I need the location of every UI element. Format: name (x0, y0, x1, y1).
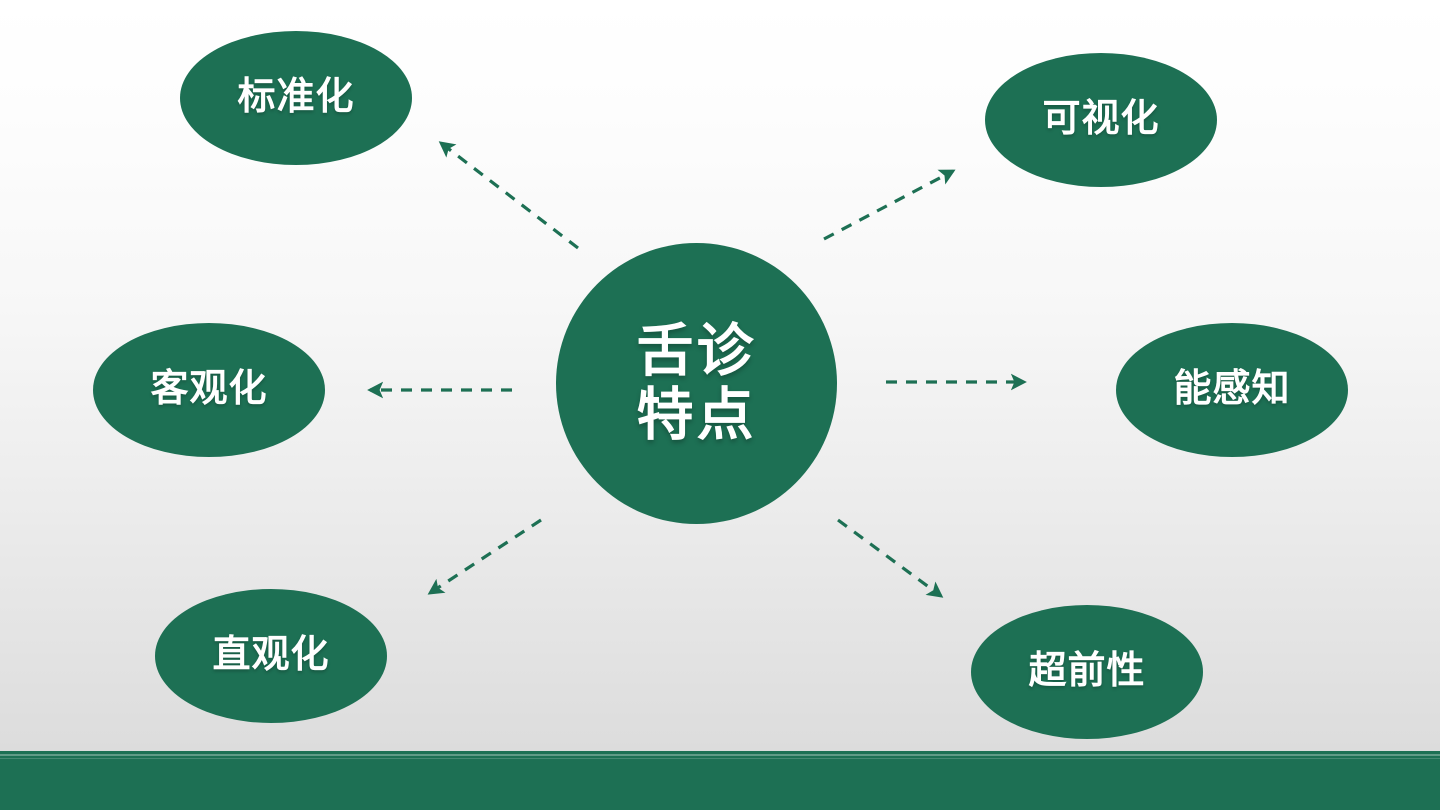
node-bottom-right-label: 超前性 (1028, 651, 1145, 693)
connector-center-to-bottom-right (838, 520, 941, 596)
node-middle-left[interactable]: 客观化 (93, 323, 325, 457)
node-top-left[interactable]: 标准化 (180, 31, 412, 165)
center-node-label-line1: 舌诊 (637, 320, 757, 384)
connector-center-to-top-right (824, 171, 953, 239)
node-middle-right-label: 能感知 (1173, 369, 1290, 411)
node-middle-right[interactable]: 能感知 (1116, 323, 1348, 457)
node-top-left-label: 标准化 (237, 77, 354, 119)
node-top-right-label: 可视化 (1042, 99, 1159, 141)
node-top-right[interactable]: 可视化 (985, 53, 1217, 187)
node-bottom-left[interactable]: 直观化 (155, 589, 387, 723)
slide-canvas: 标准化 可视化 客观化 能感知 直观化 超前性 舌诊 特点 (0, 0, 1440, 810)
connector-center-to-top-left (441, 143, 578, 248)
center-node-label-line2: 特点 (637, 384, 757, 448)
node-bottom-left-label: 直观化 (212, 635, 329, 677)
bottom-band (0, 751, 1440, 810)
bottom-band-hairline-second (0, 758, 1440, 759)
node-middle-left-label: 客观化 (150, 369, 267, 411)
center-node-label-group: 舌诊 特点 (637, 320, 757, 448)
bottom-band-hairline-top (0, 754, 1440, 756)
connector-center-to-bottom-left (430, 520, 541, 593)
node-bottom-right[interactable]: 超前性 (971, 605, 1203, 739)
center-node[interactable]: 舌诊 特点 (556, 243, 837, 524)
